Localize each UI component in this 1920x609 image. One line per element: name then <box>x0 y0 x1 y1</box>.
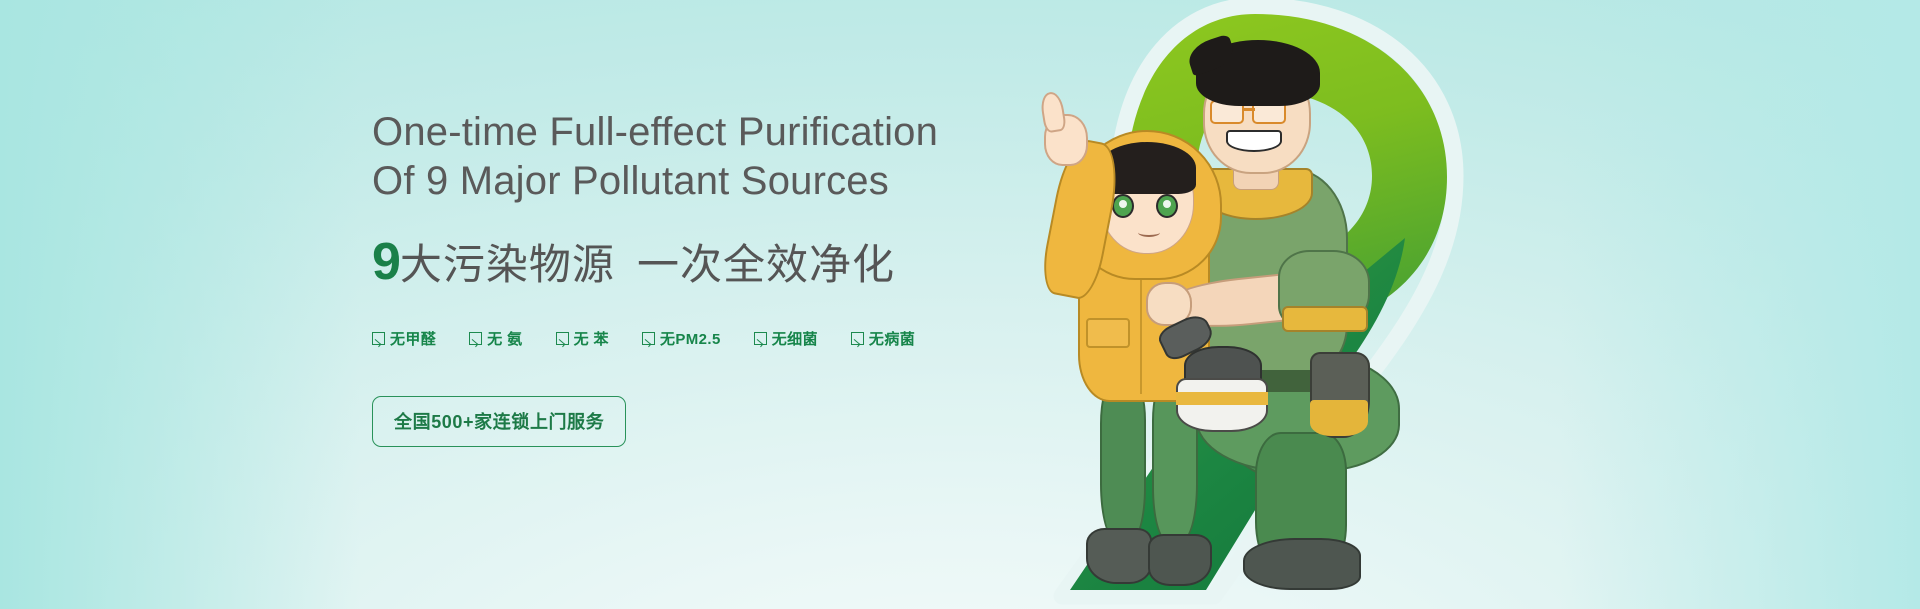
feature-label: 无 苯 <box>574 328 609 349</box>
tool-pouch-strap <box>1310 400 1368 436</box>
headline-cn-number: 9 <box>372 236 400 288</box>
copy-block: One-time Full-effect Purification Of 9 M… <box>372 108 1092 447</box>
man-sleeve-cuff <box>1282 306 1368 332</box>
child-eye-right <box>1156 194 1178 218</box>
child-raincoat-pocket <box>1086 318 1130 348</box>
feature-item-3: 无 苯 <box>556 328 609 349</box>
man-boot <box>1243 538 1361 590</box>
child-boot-right <box>1148 534 1212 586</box>
feature-item-2: 无 氨 <box>469 328 522 349</box>
feature-list: 无甲醛 无 氨 无 苯 无PM2.5 无细菌 无病菌 <box>372 328 1092 349</box>
checkbox-check-icon <box>372 332 385 345</box>
headline-en-line1: One-time Full-effect Purification <box>372 108 1092 157</box>
checkbox-check-icon <box>851 332 864 345</box>
child-boot-left <box>1086 528 1152 584</box>
spray-tool-band <box>1176 392 1268 405</box>
child-eye-left <box>1112 194 1134 218</box>
promo-banner: One-time Full-effect Purification Of 9 M… <box>0 0 1920 609</box>
feature-label: 无PM2.5 <box>660 328 721 349</box>
background-vignette-right <box>1560 0 1920 609</box>
headline-cn-part1: 大污染物源 <box>400 244 615 286</box>
feature-item-5: 无细菌 <box>754 328 818 349</box>
feature-item-6: 无病菌 <box>851 328 915 349</box>
spray-tool-body <box>1176 378 1268 432</box>
feature-label: 无 氨 <box>487 328 522 349</box>
feature-label: 无细菌 <box>772 328 818 349</box>
child-leg-left <box>1100 382 1146 542</box>
checkbox-check-icon <box>642 332 655 345</box>
checkbox-check-icon <box>469 332 482 345</box>
background-vignette-left <box>0 0 360 609</box>
headline-en-line2: Of 9 Major Pollutant Sources <box>372 157 1092 206</box>
feature-label: 无病菌 <box>869 328 915 349</box>
feature-item-4: 无PM2.5 <box>642 328 721 349</box>
checkbox-check-icon <box>754 332 767 345</box>
headline-cn: 9 大污染物源 一次全效净化 <box>372 236 1092 288</box>
headline-cn-part2: 一次全效净化 <box>637 244 895 286</box>
feature-label: 无甲醛 <box>390 328 436 349</box>
feature-item-1: 无甲醛 <box>372 328 436 349</box>
glasses-bridge <box>1243 108 1255 111</box>
man-smile <box>1226 130 1282 152</box>
child-mouth <box>1138 228 1160 237</box>
checkbox-check-icon <box>556 332 569 345</box>
nationwide-service-button[interactable]: 全国500+家连锁上门服务 <box>372 396 626 447</box>
